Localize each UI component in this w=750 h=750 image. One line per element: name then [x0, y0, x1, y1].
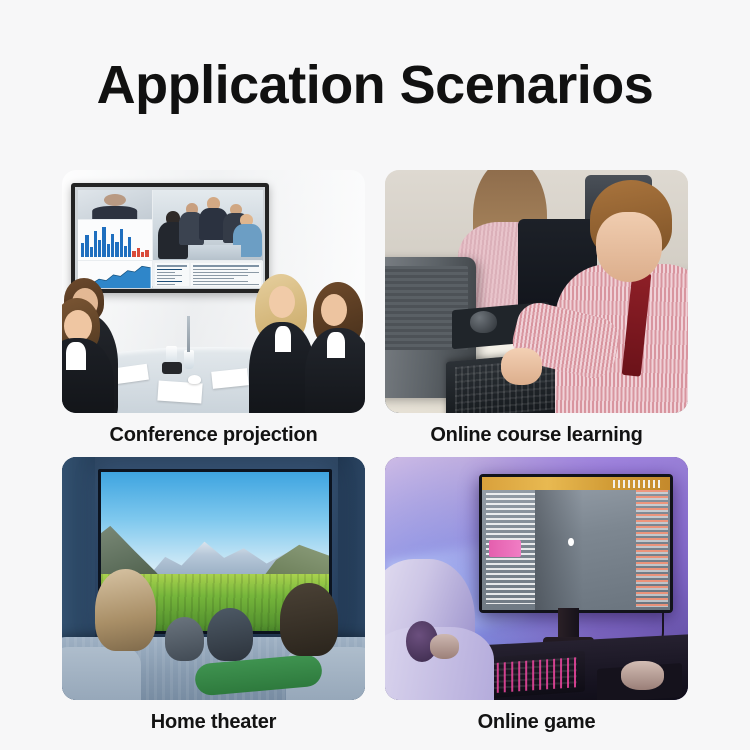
- gamer-mouse-hand: [621, 661, 663, 690]
- person-seated-right-blonde: [253, 274, 311, 413]
- viewer-head-child-right: [207, 608, 252, 661]
- video-tile-meeting-room: [153, 190, 263, 260]
- student-boy: [549, 180, 688, 413]
- scenario-caption: Home theater: [62, 711, 365, 734]
- scenario-image-conference-projection[interactable]: [62, 170, 365, 413]
- viewer-head-child-left: [165, 617, 204, 661]
- sofa-armrest-left: [62, 647, 141, 700]
- scenario-grid: Conference projection: [62, 170, 688, 734]
- conference-display-bezel: [75, 187, 265, 289]
- video-tile-presenter: [78, 190, 152, 219]
- computer-mouse: [470, 311, 497, 333]
- bar-chart: [81, 224, 149, 257]
- person-seated-right-brunette: [309, 282, 365, 413]
- scenario-image-online-course-learning[interactable]: [385, 170, 688, 413]
- gaming-monitor: [479, 474, 673, 613]
- page-title: Application Scenarios: [0, 56, 750, 115]
- viewer-head-woman: [95, 569, 156, 652]
- conference-display-screen: [78, 190, 262, 286]
- gamer: [385, 559, 494, 700]
- scenario-cell-conference-projection: Conference projection: [62, 170, 365, 447]
- scenario-image-home-theater[interactable]: [62, 457, 365, 700]
- gaming-monitor-screen: [482, 477, 670, 610]
- application-scenarios-page: Application Scenarios: [0, 0, 750, 750]
- game-hud-topbar: [482, 477, 670, 490]
- scenario-caption: Online game: [385, 711, 688, 734]
- text-panel-right: [191, 263, 261, 286]
- scenario-cell-online-game: Online game: [385, 457, 688, 734]
- scenario-caption: Online course learning: [385, 424, 688, 447]
- game-chat-right: [636, 490, 668, 607]
- text-panels: [153, 261, 263, 288]
- scenario-caption: Conference projection: [62, 424, 365, 447]
- game-crosshair: [568, 538, 574, 546]
- conference-display: [71, 183, 269, 293]
- scenario-image-online-game[interactable]: [385, 457, 688, 700]
- microphone-stand: [187, 316, 190, 352]
- chart-bar-panel: [78, 220, 152, 260]
- scenario-cell-home-theater: Home theater: [62, 457, 365, 734]
- water-glass: [184, 350, 194, 369]
- text-panel-left: [155, 263, 189, 286]
- viewer-head-man: [280, 583, 338, 656]
- scenario-cell-online-course-learning: Online course learning: [385, 170, 688, 447]
- person-seated-left-front: [62, 298, 112, 413]
- dark-object: [162, 362, 182, 374]
- game-screen-shade: [535, 490, 584, 609]
- coffee-cup: [188, 375, 201, 384]
